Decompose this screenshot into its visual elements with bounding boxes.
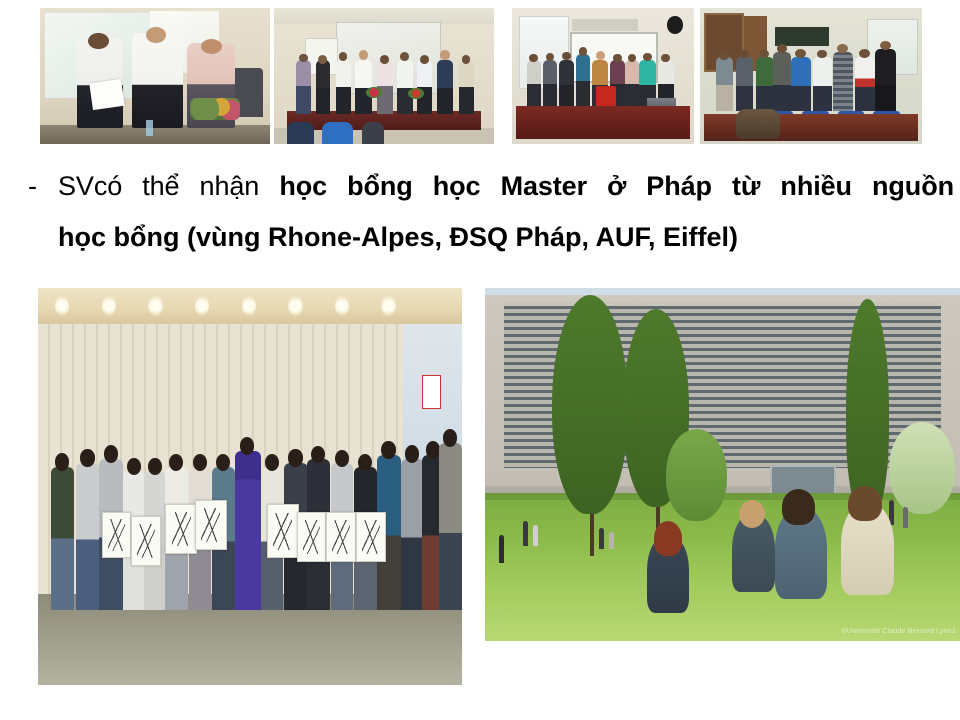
- person-seated: [287, 122, 313, 144]
- person-standing: [559, 60, 574, 106]
- person-student: [76, 463, 99, 610]
- person-walking: [523, 521, 528, 546]
- person-standing: [716, 57, 734, 111]
- person-head: [400, 52, 409, 61]
- person-standing: [855, 57, 875, 111]
- no-smoking-sign: [422, 375, 441, 409]
- person-head: [80, 449, 94, 466]
- bullet-text-block: - SVcó thể nhận học bổng học Master ở Ph…: [14, 166, 954, 257]
- person-walking: [499, 535, 504, 563]
- person-walking: [609, 532, 614, 550]
- person-student: [439, 443, 462, 610]
- person-hair: [848, 486, 881, 521]
- photo-calligraphy-group: [38, 288, 462, 685]
- person-standing: [833, 52, 853, 112]
- person-standing: [736, 57, 754, 111]
- person-head: [288, 449, 302, 466]
- backpack: [736, 109, 780, 139]
- person-head: [777, 44, 787, 53]
- ceiling-spotlight: [55, 296, 69, 316]
- photo-campus-lawn: ©Université Claude Bernard Lyon1: [485, 288, 960, 641]
- person-head: [380, 55, 389, 64]
- bullet-marker: -: [14, 166, 58, 206]
- person-head: [104, 445, 118, 462]
- bouquet: [408, 88, 423, 99]
- bullet-line-1: SVcó thể nhận học bổng học Master ở Pháp…: [58, 166, 954, 206]
- ceiling-spotlight: [335, 296, 349, 316]
- calligraphy-poster: [356, 512, 386, 562]
- person-head: [358, 454, 372, 471]
- ceiling-spotlight: [102, 296, 116, 316]
- person-standing: [417, 60, 432, 114]
- person-standing: [756, 57, 775, 111]
- photo-students-blue-chairs: [700, 8, 922, 144]
- line1-segment-bold: học bổng học Master ở Pháp từ nhiều nguồ…: [279, 171, 954, 201]
- person-in-ao-dai: [235, 451, 260, 610]
- line2-segment-bold: học bổng (vùng Rhone-Alpes, ĐSQ Pháp, AU…: [58, 222, 738, 252]
- person-head: [719, 51, 729, 60]
- person-walking: [599, 528, 604, 549]
- photo-classroom-whiteboard: [512, 8, 694, 144]
- flowering-tree: [889, 422, 956, 514]
- bouquet: [366, 87, 381, 98]
- person-head: [462, 55, 471, 64]
- bouquet: [190, 98, 241, 120]
- slide-canvas: - SVcó thể nhận học bổng học Master ở Ph…: [0, 0, 960, 720]
- person-hair: [782, 489, 815, 524]
- projection-screen: [572, 19, 638, 31]
- person-head: [299, 54, 308, 63]
- person-student: [51, 467, 74, 610]
- person-standing: [377, 60, 392, 114]
- person-standing: [459, 60, 474, 114]
- ceiling-spotlight: [148, 296, 162, 316]
- calligraphy-poster: [267, 504, 299, 558]
- person-head: [817, 50, 827, 59]
- calligraphy-poster: [102, 512, 132, 558]
- wall-clock: [667, 16, 683, 34]
- person-standing: [437, 60, 454, 114]
- person-walking: [903, 507, 908, 528]
- person-standing: [791, 57, 811, 111]
- person-head: [420, 55, 429, 64]
- floor: [40, 125, 270, 144]
- calligraphy-poster: [326, 512, 356, 562]
- calligraphy-poster: [297, 512, 327, 562]
- person-head: [265, 454, 279, 471]
- person-standing: [875, 49, 896, 112]
- person-head: [216, 454, 230, 471]
- person-head: [880, 41, 891, 51]
- person-standing: [543, 60, 558, 106]
- calligraphy-poster: [131, 516, 161, 566]
- person-standing: [316, 60, 330, 114]
- ceiling-spotlight: [381, 296, 395, 316]
- person-standing: [773, 52, 791, 112]
- person-head: [443, 429, 457, 446]
- person-head: [127, 458, 141, 475]
- person-seated: [322, 122, 353, 144]
- person-head: [613, 54, 621, 62]
- photo-group-projector-room: [274, 8, 494, 144]
- cypress-tree: [846, 299, 889, 518]
- person-standing: [336, 60, 351, 114]
- person-standing: [397, 60, 412, 114]
- person-head: [335, 450, 349, 467]
- person-professor: [132, 33, 183, 128]
- line1-segment-regular: SVcó thể nhận: [58, 171, 279, 201]
- small-tree: [666, 429, 728, 521]
- person-standing: [527, 60, 542, 106]
- photo-award-ceremony: [40, 8, 270, 144]
- person-hair: [654, 521, 683, 556]
- ceiling-spotlight: [195, 296, 209, 316]
- person-standing: [296, 60, 311, 114]
- person-head: [837, 44, 848, 53]
- water-bottle: [146, 120, 153, 136]
- person-head: [88, 33, 109, 49]
- ceiling-spotlight: [242, 296, 256, 316]
- person-standing: [625, 60, 640, 106]
- person-student: [401, 459, 425, 610]
- bullet-line-2: học bổng (vùng Rhone-Alpes, ĐSQ Pháp, AU…: [14, 217, 954, 257]
- person-standing: [576, 54, 591, 106]
- person-head: [405, 445, 419, 462]
- ceiling-spotlight: [288, 296, 302, 316]
- person-head: [381, 441, 395, 458]
- certificate: [89, 79, 125, 110]
- person-head: [440, 50, 449, 59]
- person-head: [596, 51, 605, 60]
- person-seated: [362, 122, 384, 144]
- calligraphy-poster: [195, 500, 227, 550]
- person-walking: [533, 525, 538, 546]
- person-head: [55, 453, 69, 470]
- person-head: [148, 458, 162, 475]
- calligraphy-poster: [165, 504, 197, 554]
- person-standing: [813, 57, 832, 111]
- person-head: [359, 50, 368, 59]
- photo-watermark: ©Université Claude Bernard Lyon1: [842, 628, 956, 635]
- conference-table: [287, 111, 481, 130]
- person-head: [739, 50, 749, 59]
- poplar-tree: [552, 295, 628, 514]
- person-head: [579, 47, 587, 55]
- person-head: [643, 53, 652, 61]
- person-head: [193, 454, 207, 471]
- person-head: [795, 49, 806, 58]
- person-head: [201, 39, 222, 54]
- person-head: [562, 52, 570, 60]
- conference-table: [516, 106, 691, 139]
- person-head: [318, 55, 327, 64]
- person-head: [240, 437, 254, 455]
